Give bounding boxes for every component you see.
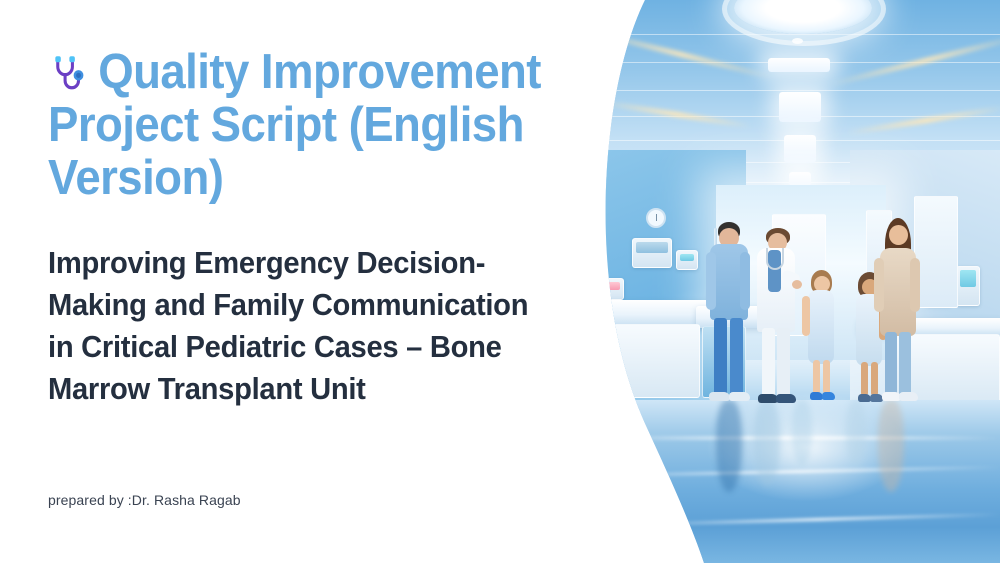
infusion-pump (956, 266, 980, 306)
nurse-figure (706, 222, 750, 402)
author-credit: prepared by :Dr. Rasha Ragab (48, 492, 241, 508)
figure-reflection (716, 400, 742, 492)
wall-clock-icon (646, 208, 666, 228)
title-block: Quality Improvement Project Script (Engl… (48, 46, 593, 410)
vitals-monitor (632, 238, 672, 268)
doctor-figure (752, 228, 800, 404)
ceiling-panel-light (779, 92, 821, 122)
bedside-screen (600, 278, 624, 300)
child-figure-one (804, 270, 838, 402)
station-cabinet (604, 324, 700, 398)
figure-reflection (878, 400, 904, 492)
parent-figure (874, 218, 920, 404)
stethoscope-worn (766, 248, 784, 270)
smoke-detector-icon (792, 38, 803, 44)
page-title: Quality Improvement Project Script (Engl… (48, 46, 555, 205)
patient-room-door (914, 196, 958, 308)
ceiling-panel-light (784, 135, 816, 163)
page-title-text: Quality Improvement Project Script (Engl… (48, 45, 541, 205)
stethoscope-icon (48, 53, 87, 95)
hospital-corridor-photo (596, 0, 1000, 563)
presentation-slide: Quality Improvement Project Script (Engl… (0, 0, 1000, 563)
ceiling-panel-light (789, 172, 811, 186)
ceiling-panel-light (768, 58, 830, 72)
figure-reflection (792, 400, 812, 466)
figure-reflection (754, 400, 780, 486)
wall-control-panel (676, 250, 698, 270)
page-subtitle: Improving Emergency Decision-Making and … (48, 242, 560, 410)
figure-reflection (846, 400, 866, 466)
hero-image (596, 0, 1000, 563)
